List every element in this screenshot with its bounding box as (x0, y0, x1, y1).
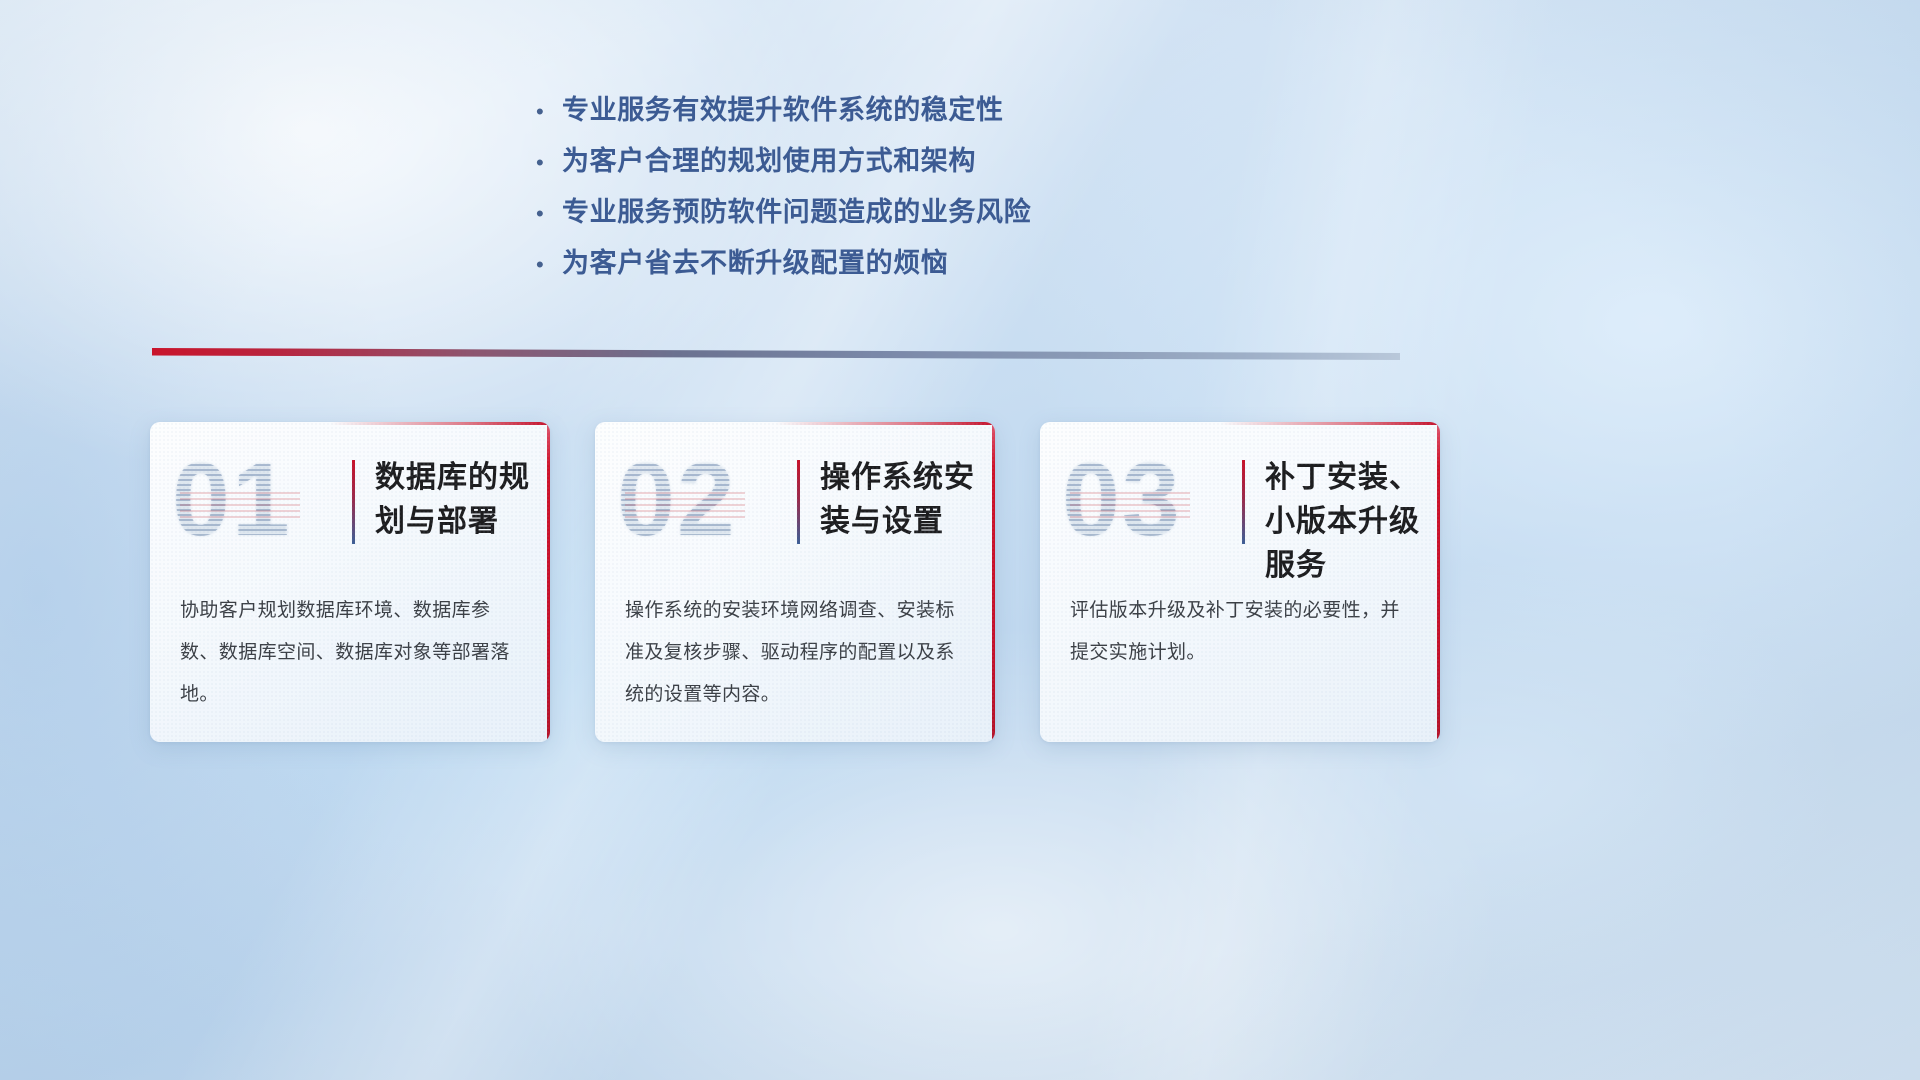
bullet-list: • 专业服务有效提升软件系统的稳定性 • 为客户合理的规划使用方式和架构 • 专… (536, 88, 1176, 292)
card-02-body: 操作系统的安装环境网络调查、安装标准及复核步骤、驱动程序的配置以及系统的设置等内… (625, 590, 969, 716)
section-divider (152, 348, 1400, 360)
card-03-number-watermark: 03 (1062, 444, 1222, 556)
bullet-dot-icon: • (536, 152, 562, 174)
card-03-title-accent-bar (1242, 460, 1245, 544)
card-row: 01 01 数据库的规划与部署 协助客户规划数据库环境、数据库参数、数据库空间、… (150, 422, 1440, 742)
bullet-item-4: • 为客户省去不断升级配置的烦恼 (536, 241, 1176, 292)
bullet-item-1-label: 专业服务有效提升软件系统的稳定性 (562, 88, 1004, 127)
card-02[interactable]: 02 02 操作系统安装与设置 操作系统的安装环境网络调查、安装标准及复核步骤、… (595, 422, 995, 742)
bullet-item-4-label: 为客户省去不断升级配置的烦恼 (562, 241, 948, 280)
card-03[interactable]: 03 03 补丁安装、小版本升级服务 评估版本升级及补丁安装的必要性，并提交实施… (1040, 422, 1440, 742)
card-02-title: 操作系统安装与设置 (820, 456, 977, 544)
card-02-title-accent-bar (797, 460, 800, 544)
card-03-title: 补丁安装、小版本升级服务 (1265, 456, 1422, 588)
bullet-dot-icon: • (536, 101, 562, 123)
card-01-number-watermark: 01 (172, 444, 332, 556)
card-01-body: 协助客户规划数据库环境、数据库参数、数据库空间、数据库对象等部署落地。 (180, 590, 524, 716)
card-02-title-wrap: 操作系统安装与设置 (797, 456, 977, 544)
bullet-item-2: • 为客户合理的规划使用方式和架构 (536, 139, 1176, 190)
bullet-dot-icon: • (536, 254, 562, 276)
bullet-item-1: • 专业服务有效提升软件系统的稳定性 (536, 88, 1176, 139)
card-01-title-wrap: 数据库的规划与部署 (352, 456, 532, 544)
card-03-title-wrap: 补丁安装、小版本升级服务 (1242, 456, 1422, 588)
card-02-number-watermark: 02 (617, 444, 777, 556)
bullet-item-2-label: 为客户合理的规划使用方式和架构 (562, 139, 976, 178)
card-01-title-accent-bar (352, 460, 355, 544)
card-01-header: 01 01 数据库的规划与部署 (150, 422, 550, 582)
card-01-title: 数据库的规划与部署 (375, 456, 532, 544)
bullet-dot-icon: • (536, 203, 562, 225)
card-01[interactable]: 01 01 数据库的规划与部署 协助客户规划数据库环境、数据库参数、数据库空间、… (150, 422, 550, 742)
bullet-item-3-label: 专业服务预防软件问题造成的业务风险 (562, 190, 1031, 229)
card-02-header: 02 02 操作系统安装与设置 (595, 422, 995, 582)
card-03-header: 03 03 补丁安装、小版本升级服务 (1040, 422, 1440, 582)
card-03-body: 评估版本升级及补丁安装的必要性，并提交实施计划。 (1070, 590, 1414, 674)
bullet-item-3: • 专业服务预防软件问题造成的业务风险 (536, 190, 1176, 241)
divider-gradient-bar (152, 348, 1400, 360)
